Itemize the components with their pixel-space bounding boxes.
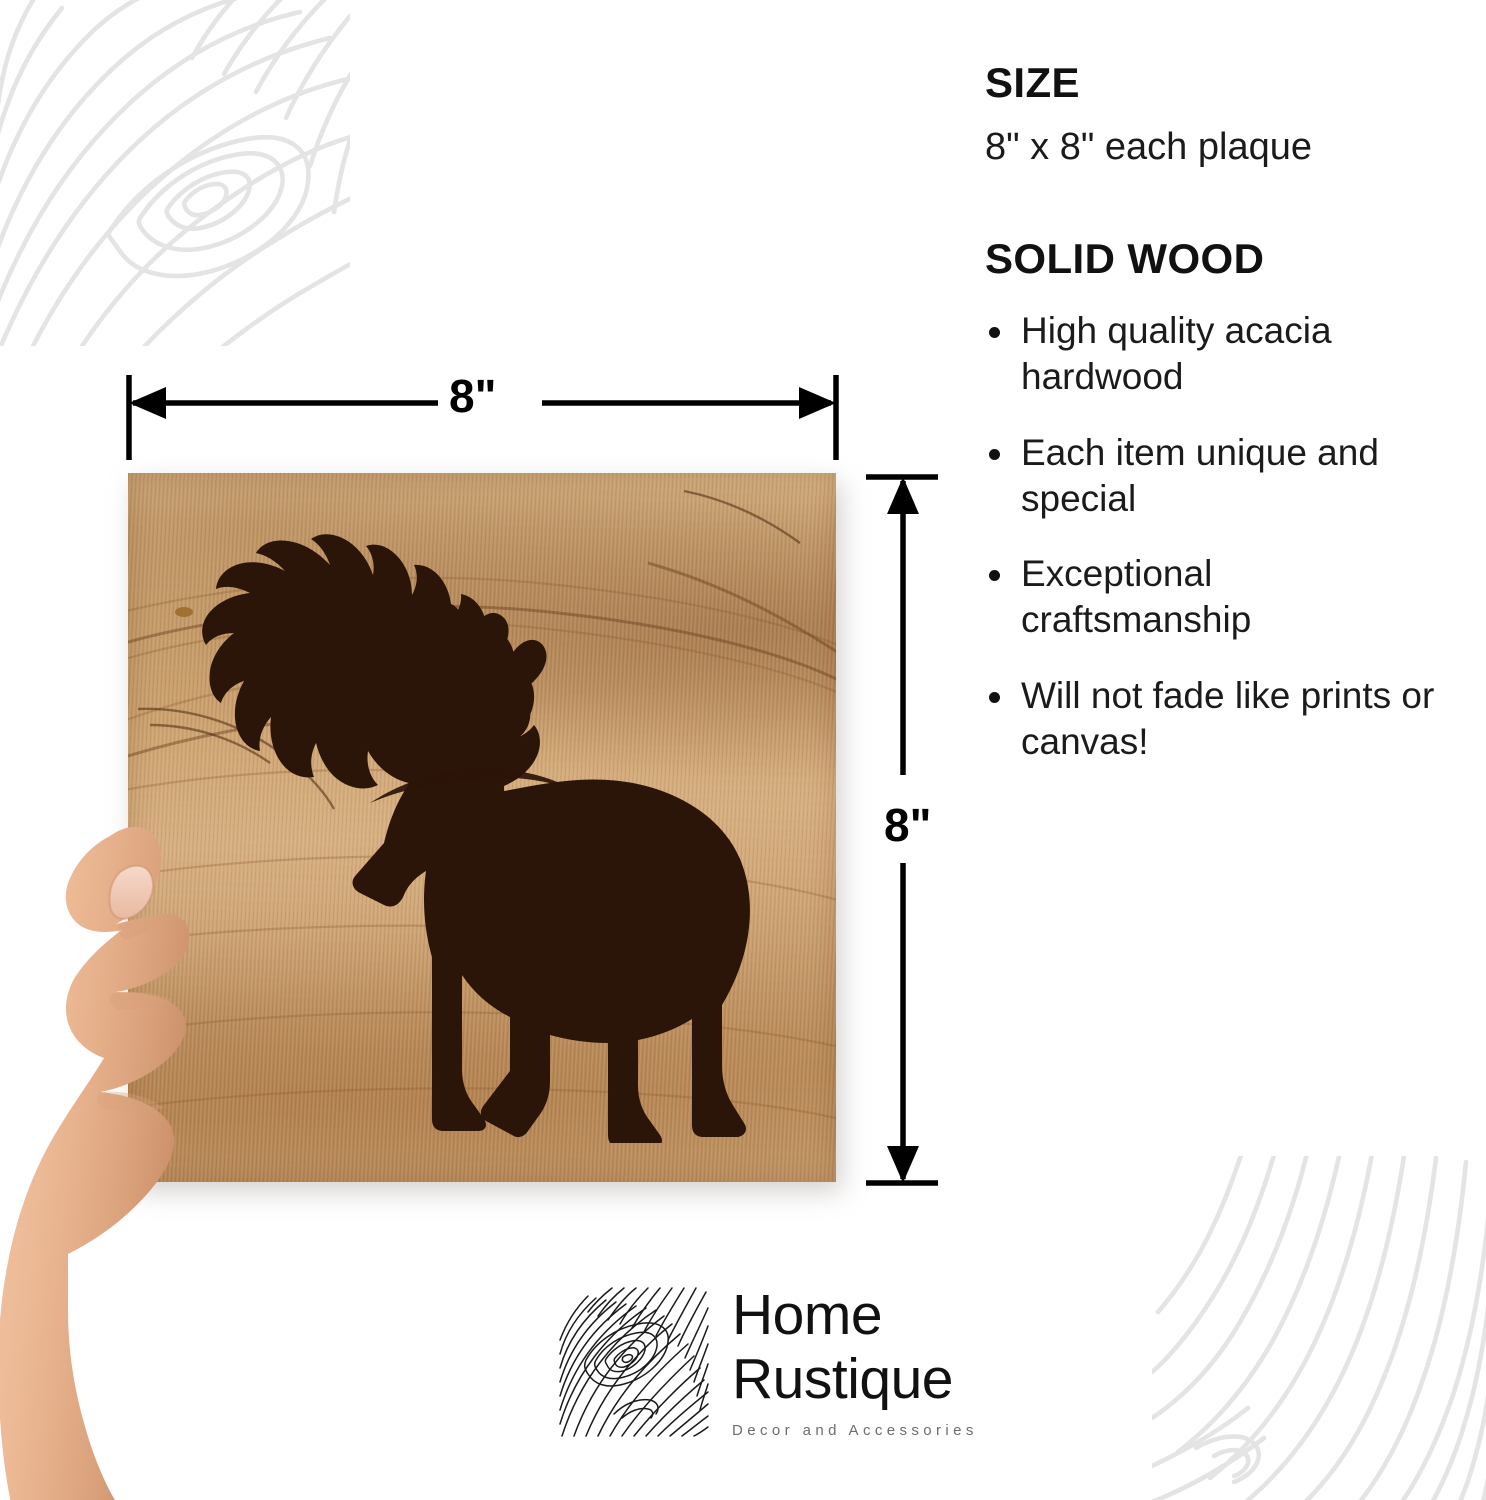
arrow-head-bottom [887,1146,919,1183]
material-heading: SOLID WOOD [985,236,1435,282]
brand-wordmark: Home Rustique Decor and Accessories [732,1286,978,1439]
woodgrain-corner-bottom-right-icon [1152,1156,1486,1500]
feature-list: High quality acacia hardwood Each item u… [985,308,1435,765]
arrow-head-top [887,477,919,514]
arrow-head-left [129,387,166,419]
info-panel: SIZE 8" x 8" each plaque SOLID WOOD High… [985,60,1435,795]
list-item: High quality acacia hardwood [985,308,1435,400]
dimension-label-height: 8" [884,802,931,848]
brand-name-line-2: Rustique [732,1352,978,1408]
size-section: SIZE 8" x 8" each plaque [985,60,1435,172]
list-item: Each item unique and special [985,430,1435,522]
woodgrain-logo-mark-icon [558,1286,710,1438]
brand-name-line-1: Home [732,1288,978,1344]
arrow-head-right [799,387,836,419]
woodgrain-corner-top-left-icon [0,0,350,346]
hand-holding-plaque [0,790,292,1500]
material-section: SOLID WOOD High quality acacia hardwood … [985,236,1435,765]
product-infographic: 8" 8" [0,0,1486,1500]
list-item: Will not fade like prints or canvas! [985,673,1435,765]
size-text: 8" x 8" each plaque [985,124,1435,172]
list-item: Exceptional craftsmanship [985,551,1435,643]
brand-logo: Home Rustique Decor and Accessories [558,1286,978,1439]
dimension-label-width: 8" [449,373,496,419]
size-heading: SIZE [985,60,1435,106]
brand-tagline: Decor and Accessories [732,1422,978,1439]
